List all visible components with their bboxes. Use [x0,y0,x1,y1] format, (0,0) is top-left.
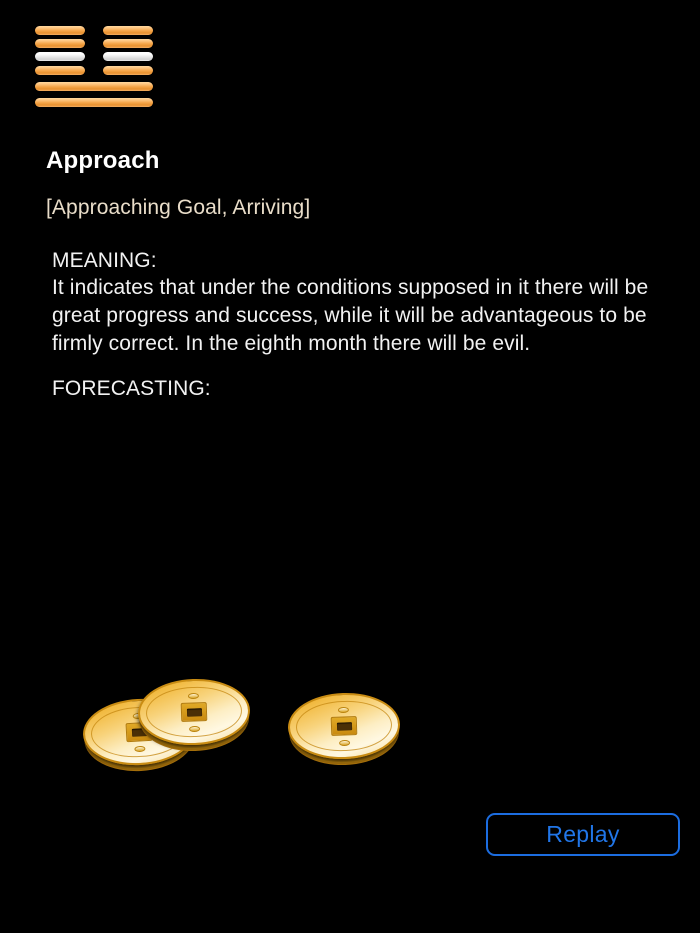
hexagram-line-3-left-segment [35,66,85,75]
reading-subtitle: [Approaching Goal, Arriving] [46,196,666,220]
hexagram-line-4-changing [35,52,153,61]
hexagram-display [35,26,153,108]
coin-center-center-hole [181,702,208,722]
hexagram-line-3 [35,66,153,75]
hexagram-line-5-right-segment [103,39,153,48]
forecasting-section: FORECASTING: [46,375,666,403]
meaning-text: It indicates that under the conditions s… [52,274,666,357]
coin-center [137,677,251,747]
forecasting-label: FORECASTING: [52,375,666,403]
hexagram-line-4-left-segment [35,52,85,61]
coin-right-center-hole [331,716,358,736]
hexagram-line-1-segment [35,98,153,107]
reading-panel: Approach [Approaching Goal, Arriving] ME… [46,148,666,421]
replay-button[interactable]: Replay [486,813,680,856]
coin-center-hole-inner [186,708,201,717]
page-title: Approach [46,148,666,174]
hexagram-line-1 [35,98,153,107]
hexagram-line-4-right-segment [103,52,153,61]
coin-right-hole-inner [336,722,351,731]
hexagram-line-3-right-segment [103,66,153,75]
three-coins-group [75,665,420,780]
hexagram-line-5 [35,39,153,48]
meaning-label: MEANING: [52,247,666,275]
hexagram-line-2 [35,82,153,91]
hexagram-line-6-right-segment [103,26,153,35]
meaning-section: MEANING: It indicates that under the con… [46,247,666,358]
hexagram-line-2-segment [35,82,153,91]
hexagram-line-5-left-segment [35,39,85,48]
hexagram-line-6-left-segment [35,26,85,35]
hexagram-line-6 [35,26,153,35]
coin-right [287,691,401,761]
